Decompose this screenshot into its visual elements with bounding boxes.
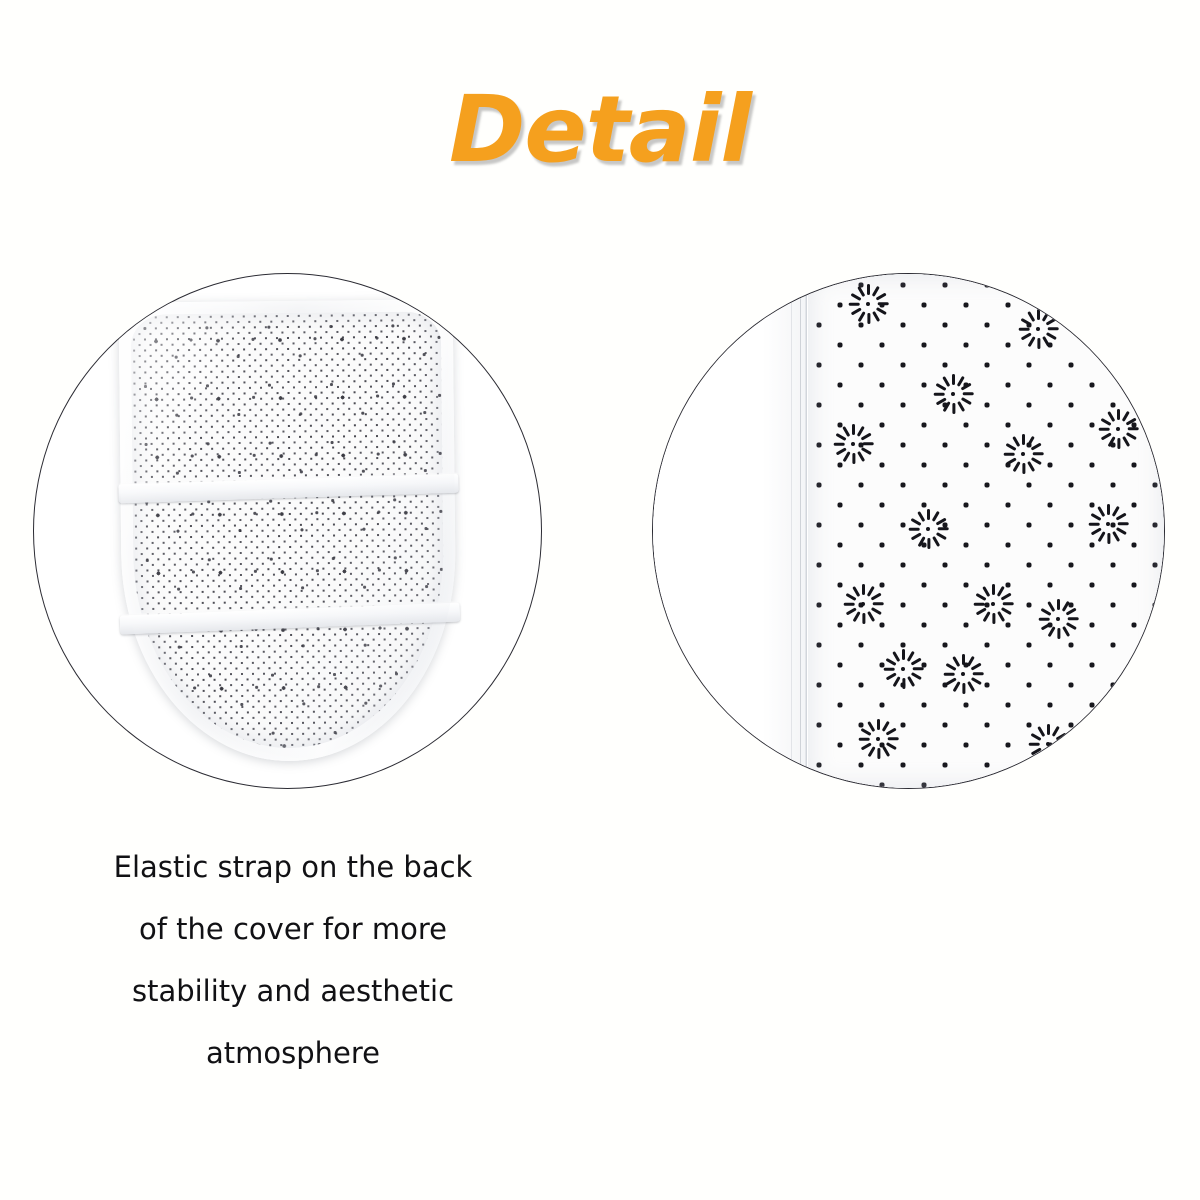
toilet-seat-cover-back-photo [33,273,542,789]
detail-panels: Elastic strap on the back of the cover f… [0,0,1200,1200]
plastic-bottom-closeup-photo [652,273,1165,789]
plastic-bottom-material [653,274,1164,788]
material-dot-grid [808,274,1164,788]
caption-left: Elastic strap on the back of the cover f… [43,836,543,1084]
seat-cover-illustration [118,299,457,762]
seam-line-inner [805,274,807,788]
seat-cover-perforated-surface [130,311,445,749]
detail-panel-right: Plastic Bottom, Soft and breathable,Not … [600,0,1200,1200]
material-white-margin [653,274,805,788]
seam-line-outer [791,274,792,788]
seam-line-middle [800,274,801,788]
detail-panel-left: Elastic strap on the back of the cover f… [0,0,600,1200]
